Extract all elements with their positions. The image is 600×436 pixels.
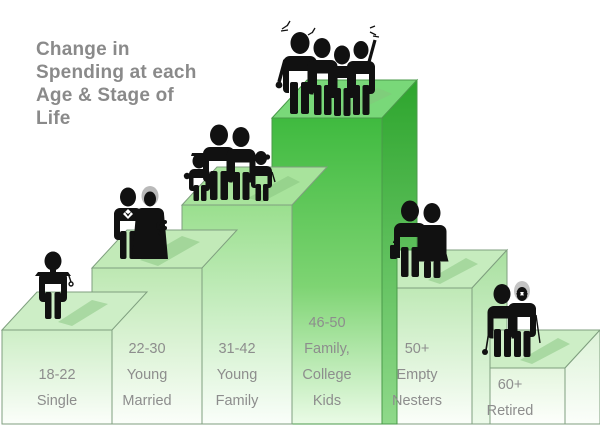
- family-teens-silhouette: [276, 21, 379, 116]
- infographic-canvas: Change in Spending at each Age & Stage o…: [0, 0, 600, 436]
- staircase-graphic: [0, 0, 600, 436]
- wedding-couple-silhouette: [114, 186, 168, 259]
